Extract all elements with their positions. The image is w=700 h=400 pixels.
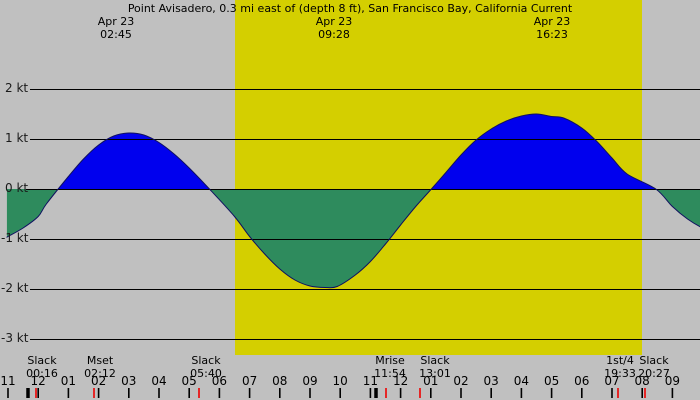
event-name: Slack <box>176 354 236 367</box>
hour-label: 02 <box>446 374 476 388</box>
hour-label: 04 <box>506 374 536 388</box>
tidal-current-chart: Point Avisadero, 0.3 mi east of (depth 8… <box>0 0 700 400</box>
y-axis-tick-label: 2 kt <box>5 81 28 95</box>
event-name: Slack <box>12 354 72 367</box>
event-name: Slack <box>405 354 465 367</box>
flood-area-group <box>58 114 655 189</box>
hour-tick-group <box>8 388 672 398</box>
event-name: Slack <box>624 354 684 367</box>
hour-label: 05 <box>174 374 204 388</box>
hour-label: 11 <box>0 374 23 388</box>
ebb-area-group <box>7 189 700 288</box>
hour-label: 08 <box>627 374 657 388</box>
hour-label: 12 <box>23 374 53 388</box>
event-name: Mset <box>70 354 130 367</box>
y-axis-tick-label: -2 kt <box>1 281 28 295</box>
hour-label: 02 <box>84 374 114 388</box>
hour-label: 01 <box>416 374 446 388</box>
hour-label: 06 <box>204 374 234 388</box>
hour-label: 07 <box>597 374 627 388</box>
y-axis-tick-label: 1 kt <box>5 131 28 145</box>
hour-label: 11 <box>355 374 385 388</box>
y-axis-tick-label: 0 kt <box>5 181 28 195</box>
hour-label: 03 <box>114 374 144 388</box>
hour-label: 03 <box>476 374 506 388</box>
hour-label: 12 <box>386 374 416 388</box>
hour-label: 09 <box>295 374 325 388</box>
hour-label: 08 <box>265 374 295 388</box>
hour-label: 07 <box>235 374 265 388</box>
ebb-area <box>210 189 431 288</box>
flood-area <box>58 133 209 189</box>
ebb-area <box>7 189 58 237</box>
current-plot <box>0 0 700 400</box>
hour-label: 09 <box>657 374 687 388</box>
y-axis-tick-label: -3 kt <box>1 331 28 345</box>
hour-label: 01 <box>53 374 83 388</box>
hour-label: 06 <box>567 374 597 388</box>
y-axis-tick-label: -1 kt <box>1 231 28 245</box>
hour-label: 05 <box>537 374 567 388</box>
flood-area <box>431 114 655 189</box>
hour-label: 10 <box>325 374 355 388</box>
hour-label: 04 <box>144 374 174 388</box>
